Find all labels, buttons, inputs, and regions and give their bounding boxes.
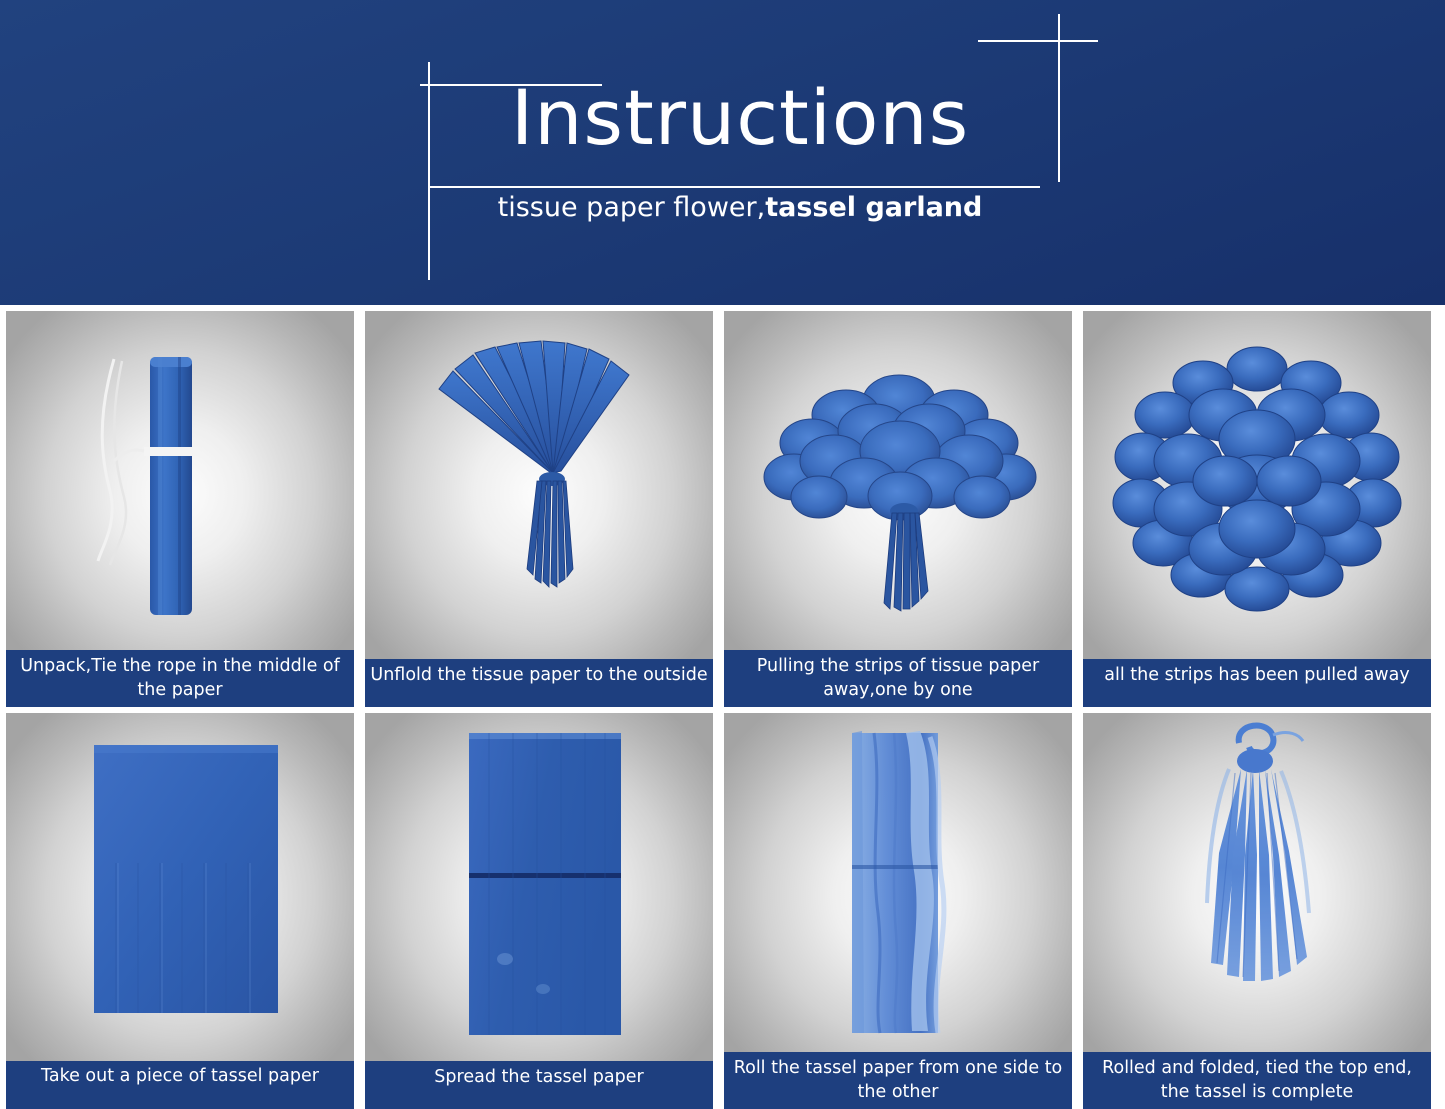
steps-grid: Unpack,Tie the rope in the middle of the… — [0, 305, 1445, 1109]
step-photo-1 — [6, 311, 354, 707]
half-fluffed-pompom-icon — [724, 311, 1072, 659]
step-photo-2 — [365, 311, 713, 707]
step-photo-4 — [1083, 311, 1431, 707]
fan-shaped-tissue-icon — [365, 311, 713, 659]
steps-row-bottom: Take out a piece of tassel paper — [0, 713, 1445, 1109]
flat-tassel-sheet-icon — [6, 713, 354, 1061]
step-caption-7: Roll the tassel paper from one side to t… — [724, 1052, 1072, 1109]
decorative-rule-top-right — [978, 40, 1098, 42]
folded-paper-with-string-icon — [6, 311, 354, 659]
subtitle-plain-text: tissue paper flower, — [498, 192, 766, 223]
step-photo-8 — [1083, 713, 1431, 1109]
step-photo-7 — [724, 713, 1072, 1109]
step-caption-5: Take out a piece of tassel paper — [6, 1061, 354, 1109]
page-title: Instructions — [420, 80, 1060, 156]
finished-tassel-icon — [1083, 713, 1431, 1061]
page-subtitle: tissue paper flower,tassel garland — [420, 192, 1060, 223]
step-photo-6 — [365, 713, 713, 1109]
subtitle-bold-text: tassel garland — [765, 192, 982, 223]
rolled-tassel-paper-icon — [724, 713, 1072, 1061]
step-photo-5 — [6, 713, 354, 1109]
decorative-rule-bottom-left — [428, 186, 1040, 188]
step-caption-8: Rolled and folded, tied the top end, the… — [1083, 1052, 1431, 1109]
step-card-8: Rolled and folded, tied the top end, the… — [1083, 713, 1431, 1109]
step-photo-3 — [724, 311, 1072, 707]
step-caption-6: Spread the tassel paper — [365, 1061, 713, 1109]
step-caption-2: Unflold the tissue paper to the outside — [365, 659, 713, 707]
step-card-6: Spread the tassel paper — [365, 713, 713, 1109]
steps-row-top: Unpack,Tie the rope in the middle of the… — [0, 311, 1445, 707]
step-caption-3: Pulling the strips of tissue paper away,… — [724, 650, 1072, 707]
step-card-5: Take out a piece of tassel paper — [6, 713, 354, 1109]
page-header: Instructions tissue paper flower,tassel … — [0, 0, 1445, 305]
step-card-7: Roll the tassel paper from one side to t… — [724, 713, 1072, 1109]
step-card-4: all the strips has been pulled away — [1083, 311, 1431, 707]
step-caption-1: Unpack,Tie the rope in the middle of the… — [6, 650, 354, 707]
step-card-3: Pulling the strips of tissue paper away,… — [724, 311, 1072, 707]
step-card-2: Unflold the tissue paper to the outside — [365, 311, 713, 707]
spread-tassel-sheet-icon — [365, 713, 713, 1061]
step-card-1: Unpack,Tie the rope in the middle of the… — [6, 311, 354, 707]
full-pompom-ball-icon — [1083, 311, 1431, 659]
step-caption-4: all the strips has been pulled away — [1083, 659, 1431, 707]
